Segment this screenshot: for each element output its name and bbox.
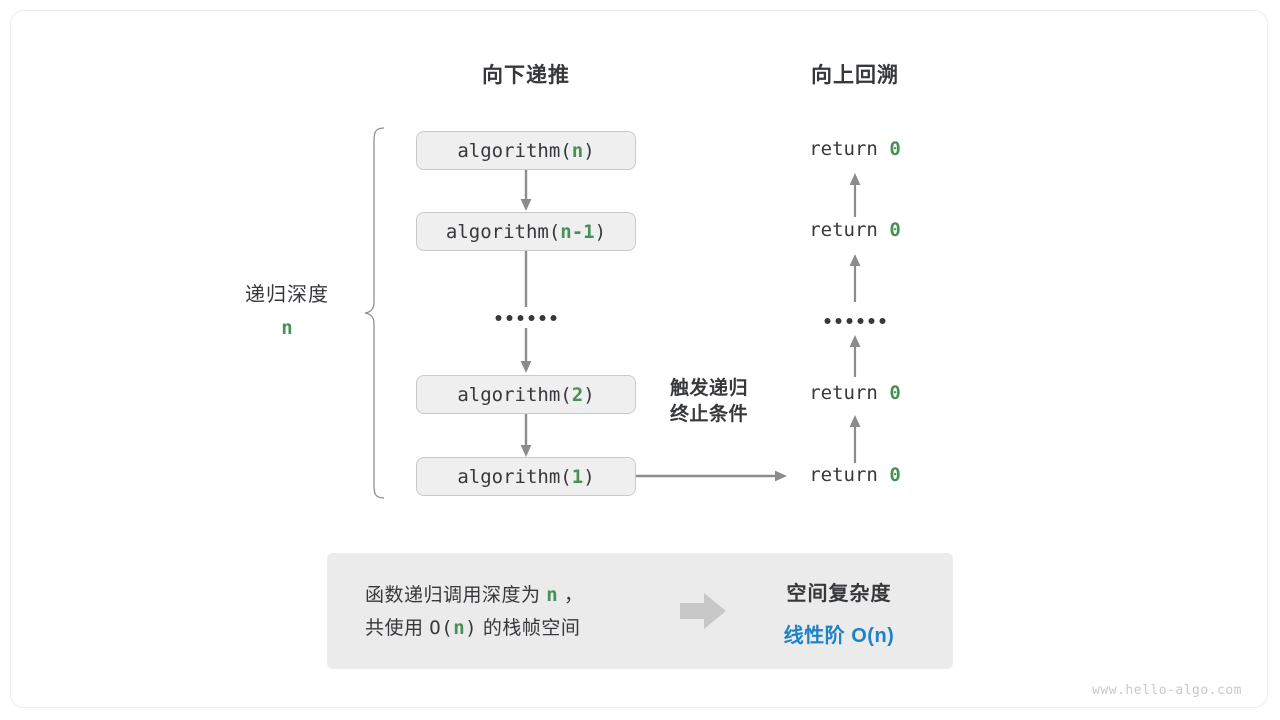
down-arrow-1: [520, 170, 532, 212]
call-box-2-arg: 2: [572, 384, 583, 406]
up-arrow-3: [849, 335, 861, 377]
summary-line-2-n: n: [453, 617, 465, 639]
dot: [551, 315, 557, 321]
trigger-note-line2: 终止条件: [670, 404, 748, 425]
summary-line-2-text-b: 的栈帧空间: [483, 618, 581, 639]
recursion-depth-text: 递归深度: [245, 278, 329, 307]
complexity-summary-panel: 函数递归调用深度为 n ， 共使用 O(n) 的栈帧空间 空间复杂度 线性阶 O…: [327, 553, 953, 669]
summary-line-1-n: n: [546, 584, 558, 606]
call-box-n-prefix: algorithm(: [457, 140, 571, 162]
recursion-depth-label: 递归深度 n: [245, 278, 329, 339]
summary-result-value: 线性阶 O(n): [784, 619, 895, 648]
return-value-2: 0: [889, 219, 900, 241]
dot: [847, 318, 853, 324]
call-box-n-minus-1-arg: n-1: [560, 221, 594, 243]
return-label-4: return 0: [809, 464, 901, 486]
column-heading-recurse-down: 向下递推: [482, 59, 570, 89]
recursion-depth-value: n: [245, 317, 329, 339]
summary-line-2-text-a: 共使用: [365, 618, 424, 639]
call-box-n-minus-1-prefix: algorithm(: [446, 221, 560, 243]
return-label-3: return 0: [809, 382, 901, 404]
return-keyword-1: return: [809, 138, 878, 160]
summary-line-1-text-a: 函数递归调用深度为: [365, 585, 541, 606]
horizontal-transition-arrow: [636, 469, 788, 483]
summary-result: 空间复杂度 线性阶 O(n): [784, 577, 895, 648]
call-box-1-suffix: ): [583, 466, 594, 488]
return-value-3: 0: [889, 382, 900, 404]
dot: [836, 318, 842, 324]
recursion-depth-brace: [362, 126, 388, 500]
call-box-n-arg: n: [572, 140, 583, 162]
call-box-1-prefix: algorithm(: [457, 466, 571, 488]
return-keyword-3: return: [809, 382, 878, 404]
return-keyword-2: return: [809, 219, 878, 241]
call-box-n[interactable]: algorithm(n): [416, 131, 636, 170]
dot: [880, 318, 886, 324]
return-keyword-4: return: [809, 464, 878, 486]
summary-line-1-text-b: ，: [564, 585, 584, 606]
diagram-canvas: 向下递推 向上回溯 递归深度 n algorithm(n) algorithm(…: [0, 0, 1280, 720]
call-box-2-suffix: ): [583, 384, 594, 406]
down-arrow-4: [520, 414, 532, 458]
summary-description: 函数递归调用深度为 n ， 共使用 O(n) 的栈帧空间: [365, 579, 584, 645]
dot: [507, 315, 513, 321]
up-arrow-2: [849, 254, 861, 302]
ellipsis-dots-left: [496, 315, 557, 321]
call-box-n-suffix: ): [583, 140, 594, 162]
dot: [529, 315, 535, 321]
call-box-1[interactable]: algorithm(1): [416, 457, 636, 496]
call-box-1-arg: 1: [572, 466, 583, 488]
return-label-1: return 0: [809, 138, 901, 160]
down-arrow-3: [520, 328, 532, 374]
summary-line-2: 共使用 O(n) 的栈帧空间: [365, 612, 584, 645]
up-arrow-1: [849, 173, 861, 217]
return-value-4: 0: [889, 464, 900, 486]
dot: [825, 318, 831, 324]
call-box-2-prefix: algorithm(: [457, 384, 571, 406]
dot: [496, 315, 502, 321]
watermark: www.hello-algo.com: [1092, 683, 1242, 698]
down-arrow-2: [520, 251, 532, 309]
trigger-termination-note: 触发递归 终止条件: [670, 376, 748, 428]
dot: [518, 315, 524, 321]
summary-result-title: 空间复杂度: [784, 577, 895, 606]
trigger-note-line1: 触发递归: [670, 378, 748, 399]
up-arrow-4: [849, 415, 861, 463]
dot: [869, 318, 875, 324]
summary-line-1: 函数递归调用深度为 n ，: [365, 579, 584, 612]
dot: [858, 318, 864, 324]
dot: [540, 315, 546, 321]
call-box-n-minus-1[interactable]: algorithm(n-1): [416, 212, 636, 251]
call-box-n-minus-1-suffix: ): [595, 221, 606, 243]
right-arrow-icon: [680, 591, 728, 631]
summary-line-2-o: O(: [429, 617, 453, 639]
column-heading-backtrack-up: 向上回溯: [811, 59, 899, 89]
return-label-2: return 0: [809, 219, 901, 241]
call-box-2[interactable]: algorithm(2): [416, 375, 636, 414]
summary-line-2-close: ): [465, 617, 477, 639]
ellipsis-dots-right: [825, 318, 886, 324]
return-value-1: 0: [889, 138, 900, 160]
